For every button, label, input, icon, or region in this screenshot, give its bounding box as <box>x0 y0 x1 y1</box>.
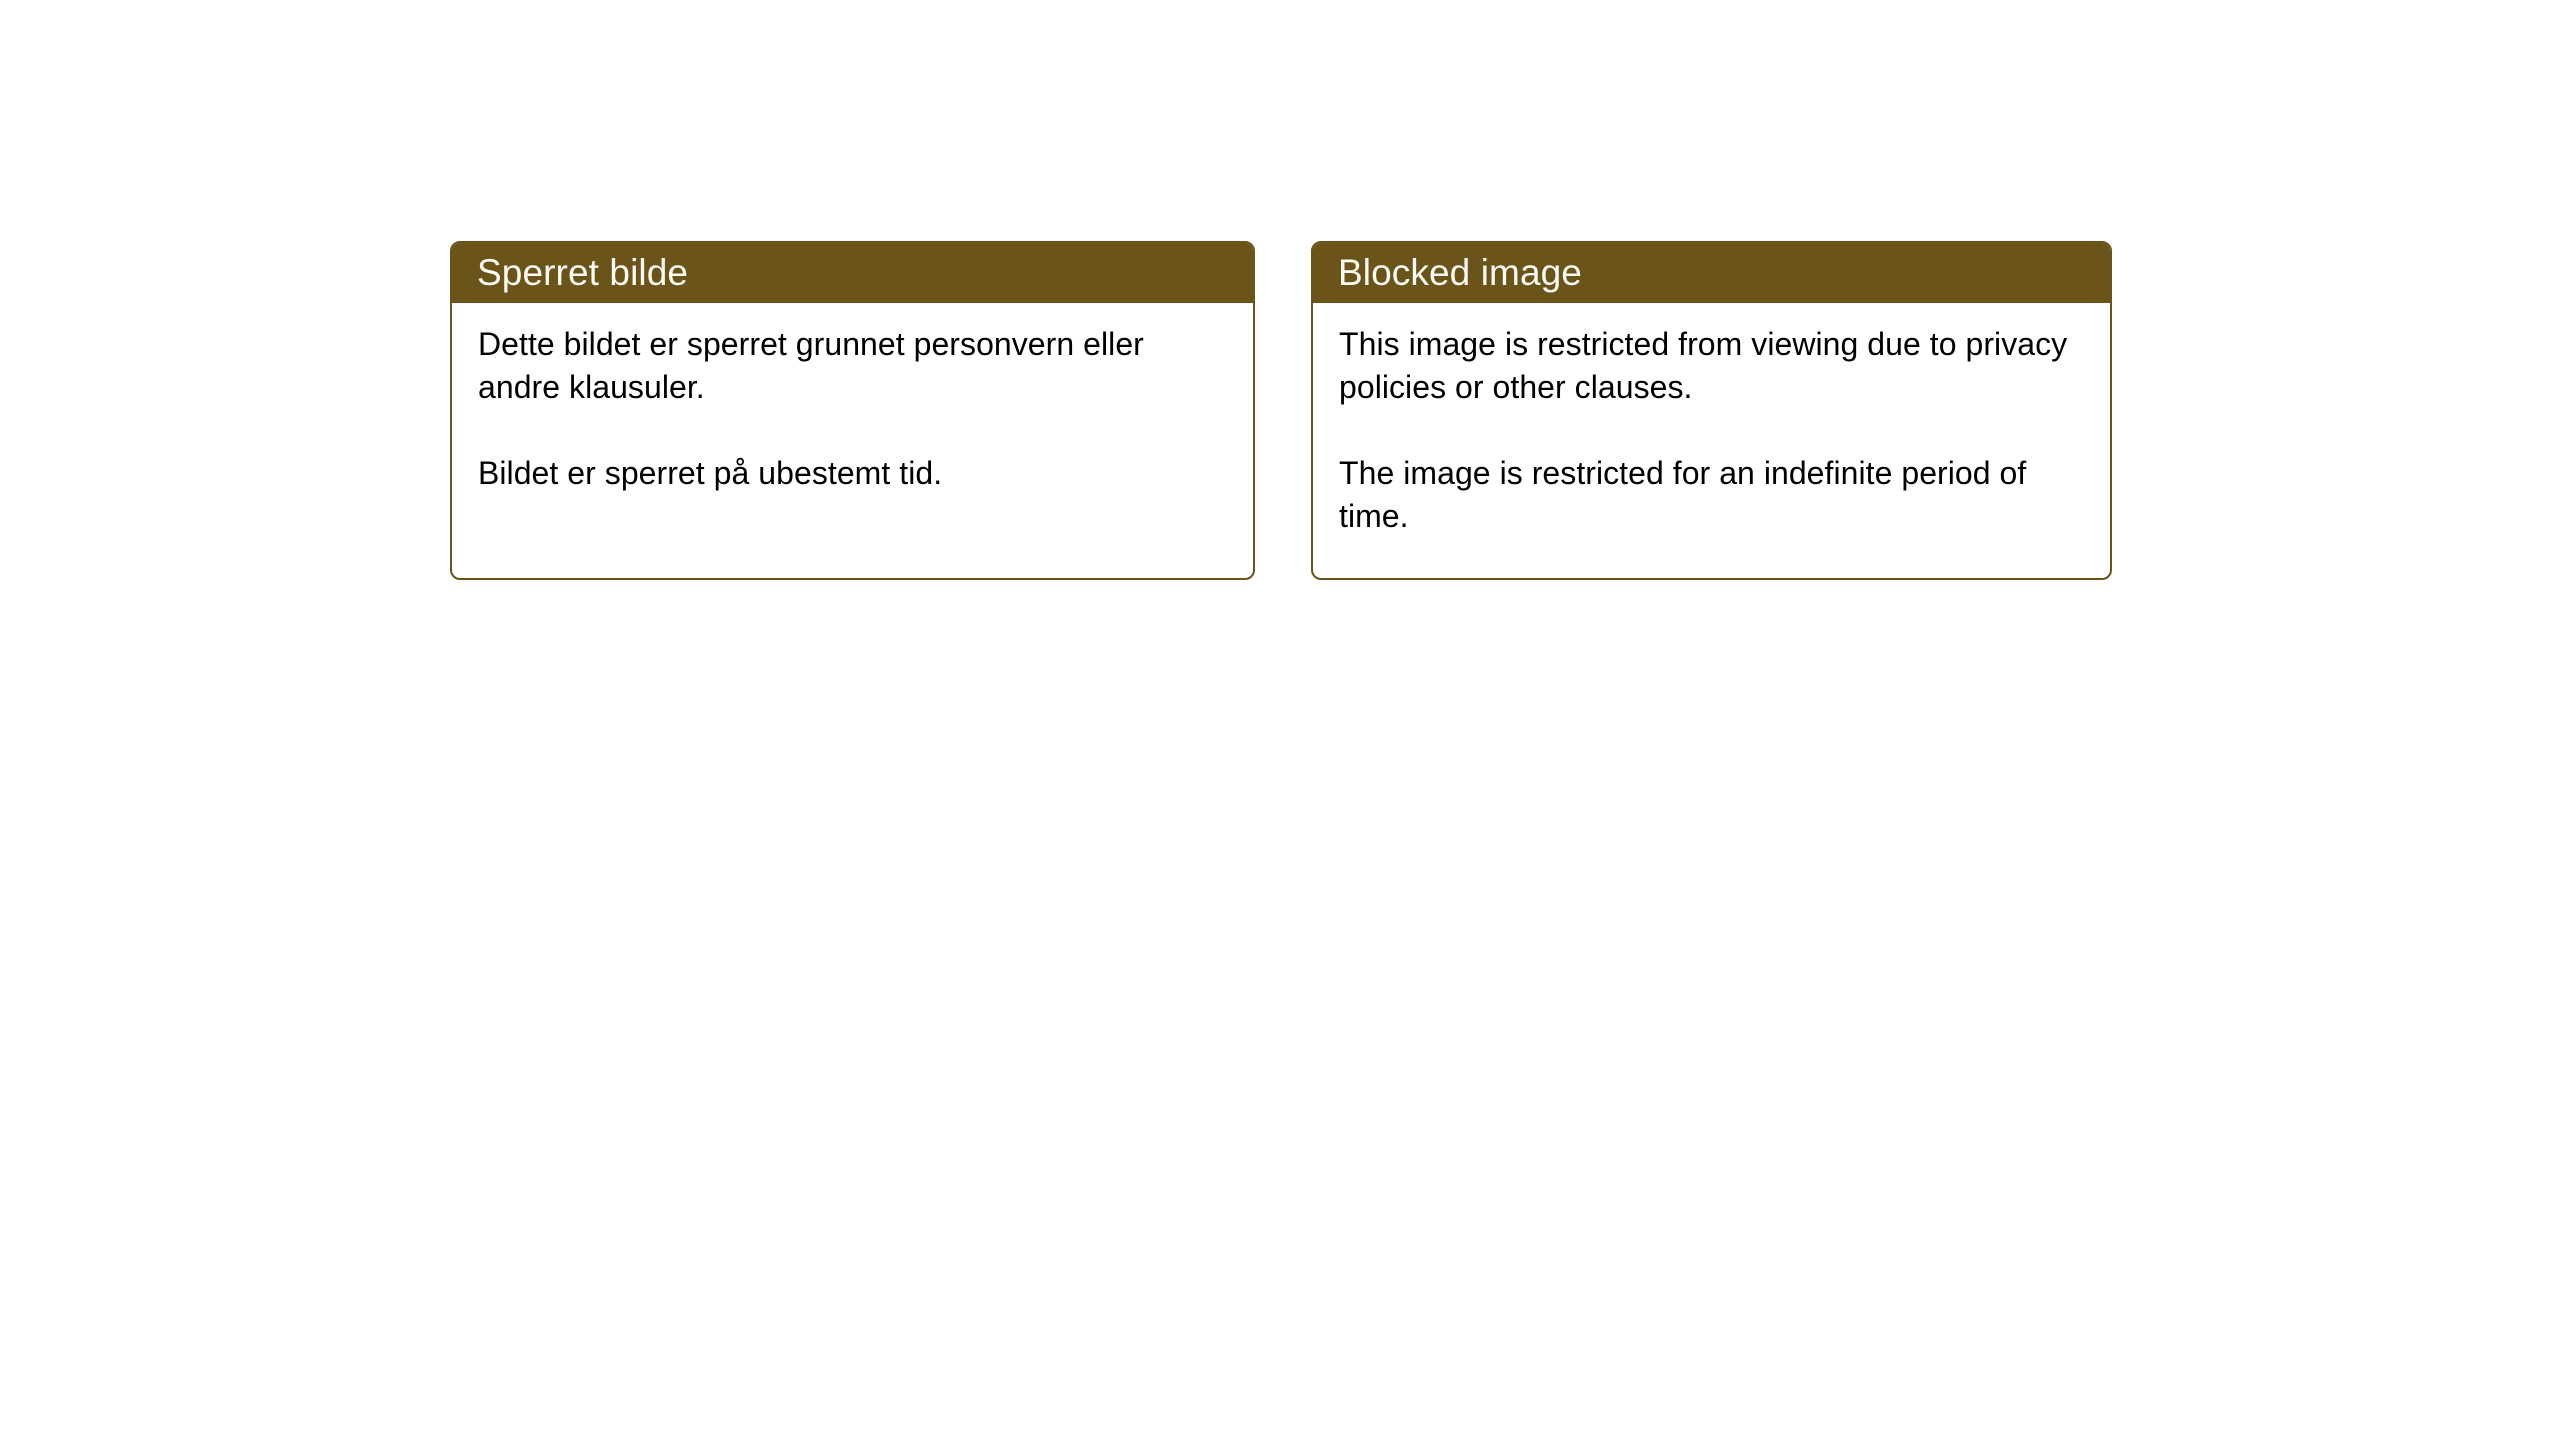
card-body-no: Dette bildet er sperret grunnet personve… <box>452 303 1253 495</box>
card-header-en: Blocked image <box>1313 243 2110 303</box>
blocked-image-notice-card-en: Blocked image This image is restricted f… <box>1311 241 2112 580</box>
card-paragraph-secondary-no: Bildet er sperret på ubestemt tid. <box>478 452 1208 495</box>
card-paragraph-primary-en: This image is restricted from viewing du… <box>1339 323 2069 409</box>
page-canvas: Sperret bilde Dette bildet er sperret gr… <box>0 0 2560 1440</box>
card-paragraph-primary-no: Dette bildet er sperret grunnet personve… <box>478 323 1208 409</box>
card-title-en: Blocked image <box>1338 252 1582 294</box>
card-header-no: Sperret bilde <box>452 243 1253 303</box>
card-paragraph-secondary-en: The image is restricted for an indefinit… <box>1339 452 2069 538</box>
blocked-image-notice-card-no: Sperret bilde Dette bildet er sperret gr… <box>450 241 1255 580</box>
card-body-en: This image is restricted from viewing du… <box>1313 303 2110 538</box>
card-title-no: Sperret bilde <box>477 252 688 294</box>
